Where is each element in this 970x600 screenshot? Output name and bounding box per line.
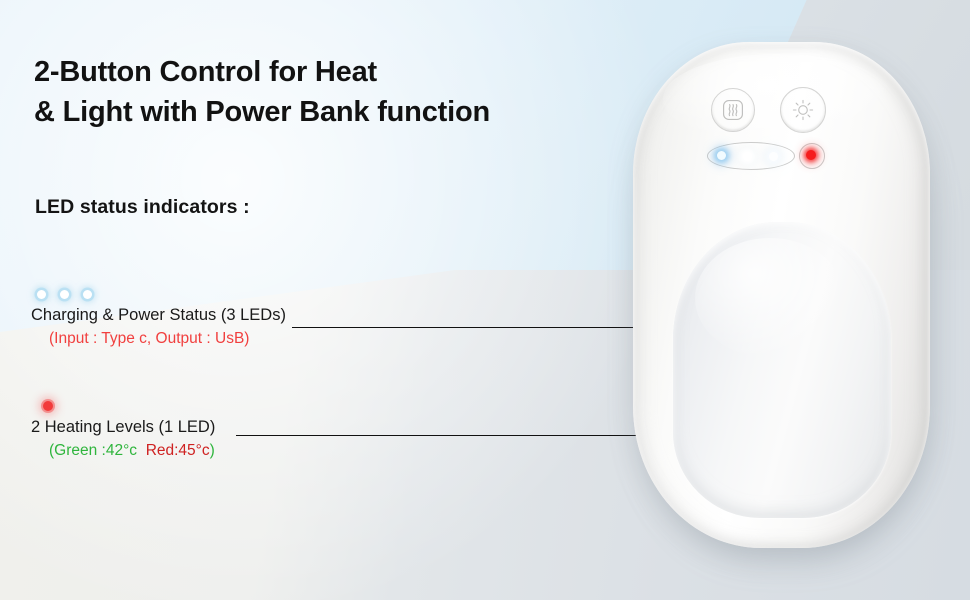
led-swatch-one-red [37,398,215,414]
annotation-heating-levels: 2 Heating Levels (1 LED) (Green :42°c Re… [31,398,215,462]
heat-waves-icon [721,98,745,122]
white-led-icon [83,290,92,299]
status-led-2 [743,152,752,161]
white-led-icon [60,290,69,299]
heating-detail-spacer [137,442,141,459]
section-heading: LED status indicators : [35,196,250,219]
annotation-heating-detail: (Green :42°c Red:45°c) [31,441,215,462]
heating-detail-green-level: Green :42°c [54,442,137,459]
annotation-charging-status: Charging & Power Status (3 LEDs) (Input … [31,286,286,350]
annotation-heating-label: 2 Heating Levels (1 LED) [31,418,215,438]
heating-led [806,150,816,160]
page-title: 2-Button Control for Heat & Light with P… [34,52,634,132]
heating-detail-red-level: Red:45°c [146,442,210,459]
light-button[interactable] [780,87,826,133]
infographic-canvas: 2-Button Control for Heat & Light with P… [0,0,970,600]
heating-detail-close-paren: ) [210,442,215,459]
annotation-charging-label: Charging & Power Status (3 LEDs) [31,306,286,326]
hand-warmer-device [633,42,930,548]
white-led-icon [37,290,46,299]
page-title-line-2: & Light with Power Bank function [34,92,634,132]
led-swatch-three-white [37,286,286,302]
heat-button[interactable] [711,88,755,132]
annotation-charging-detail: (Input : Type c, Output : UsB) [31,329,286,350]
sun-icon [790,97,816,123]
status-led-1 [717,151,726,160]
status-led-3 [769,152,778,161]
red-led-icon [43,401,53,411]
device-front-panel [673,222,891,518]
page-title-line-1: 2-Button Control for Heat [34,52,634,92]
